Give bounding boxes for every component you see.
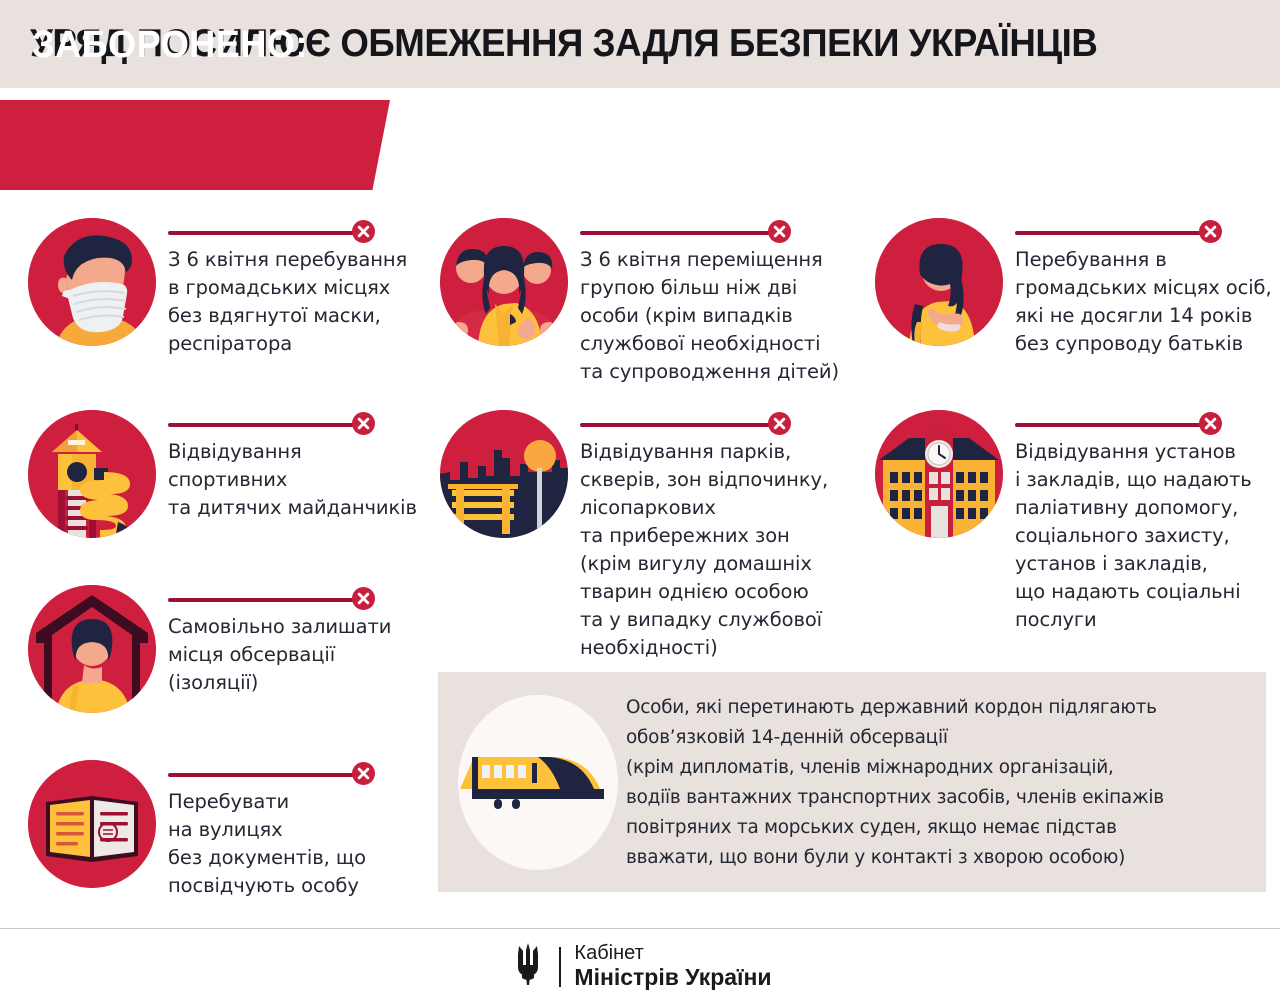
forbidden-x-icon: [768, 220, 791, 243]
train-icon: [458, 695, 618, 870]
connector-line: [168, 220, 407, 246]
restriction-text: Перебування в громадських місцях осіб, я…: [1015, 246, 1272, 358]
restriction-text: Самовільно залишати місця обсервації (із…: [168, 613, 391, 697]
restriction-text: Перебувати на вулицях без документів, що…: [168, 788, 366, 900]
forbidden-x-icon: [352, 412, 375, 435]
group-of-people-icon: [440, 218, 568, 346]
connector-line: [1015, 220, 1272, 246]
girl-icon: [875, 218, 1003, 346]
passport-document-icon: [28, 760, 156, 888]
restriction-item-parks: Відвідування парків, скверів, зон відпоч…: [440, 410, 850, 662]
restriction-item-mask: З 6 квітня перебування в громадських міс…: [28, 218, 428, 358]
restriction-item-group: З 6 квітня переміщення групою більш ніж …: [440, 218, 850, 386]
restriction-item-minors: Перебування в громадських місцях осіб, я…: [875, 218, 1275, 358]
notice-text: Особи, які перетинають державний кордон …: [626, 692, 1183, 872]
connector-line: [580, 412, 828, 438]
footer: Кабінет Міністрів України: [0, 929, 1280, 1004]
connector-line: [168, 587, 391, 613]
connector-line: [1015, 412, 1252, 438]
restriction-text: З 6 квітня переміщення групою більш ніж …: [580, 246, 839, 386]
ukraine-trident-icon: [508, 941, 548, 992]
footer-separator: [559, 947, 561, 987]
person-at-home-icon: [28, 585, 156, 713]
footer-cabinet-label: Кабінет: [574, 942, 771, 964]
restriction-item-documents: Перебувати на вулицях без документів, що…: [28, 760, 428, 900]
restriction-text: Відвідування установ і закладів, що нада…: [1015, 438, 1252, 634]
forbidden-x-icon: [352, 762, 375, 785]
restriction-item-observation: Самовільно залишати місця обсервації (із…: [28, 585, 428, 713]
forbidden-banner: [0, 100, 390, 190]
restriction-item-institutions: Відвідування установ і закладів, що нада…: [875, 410, 1275, 634]
forbidden-x-icon: [352, 220, 375, 243]
border-crossing-notice: Особи, які перетинають державний кордон …: [438, 672, 1266, 892]
restriction-text: Відвідування спортивних та дитячих майда…: [168, 438, 417, 522]
connector-line: [168, 412, 417, 438]
connector-line: [580, 220, 839, 246]
forbidden-x-icon: [352, 587, 375, 610]
restriction-item-playgrounds: Відвідування спортивних та дитячих майда…: [28, 410, 428, 538]
forbidden-x-icon: [768, 412, 791, 435]
institution-building-icon: [875, 410, 1003, 538]
masked-man-icon: [28, 218, 156, 346]
footer-ministers-label: Міністрів України: [574, 965, 771, 991]
forbidden-banner-label: ЗАБОРОНЕНО:: [32, 24, 308, 67]
restriction-text: З 6 квітня перебування в громадських міс…: [168, 246, 407, 358]
restriction-text: Відвідування парків, скверів, зон відпоч…: [580, 438, 828, 662]
forbidden-x-icon: [1199, 220, 1222, 243]
playground-icon: [28, 410, 156, 538]
forbidden-x-icon: [1199, 412, 1222, 435]
connector-line: [168, 762, 366, 788]
park-bench-icon: [440, 410, 568, 538]
